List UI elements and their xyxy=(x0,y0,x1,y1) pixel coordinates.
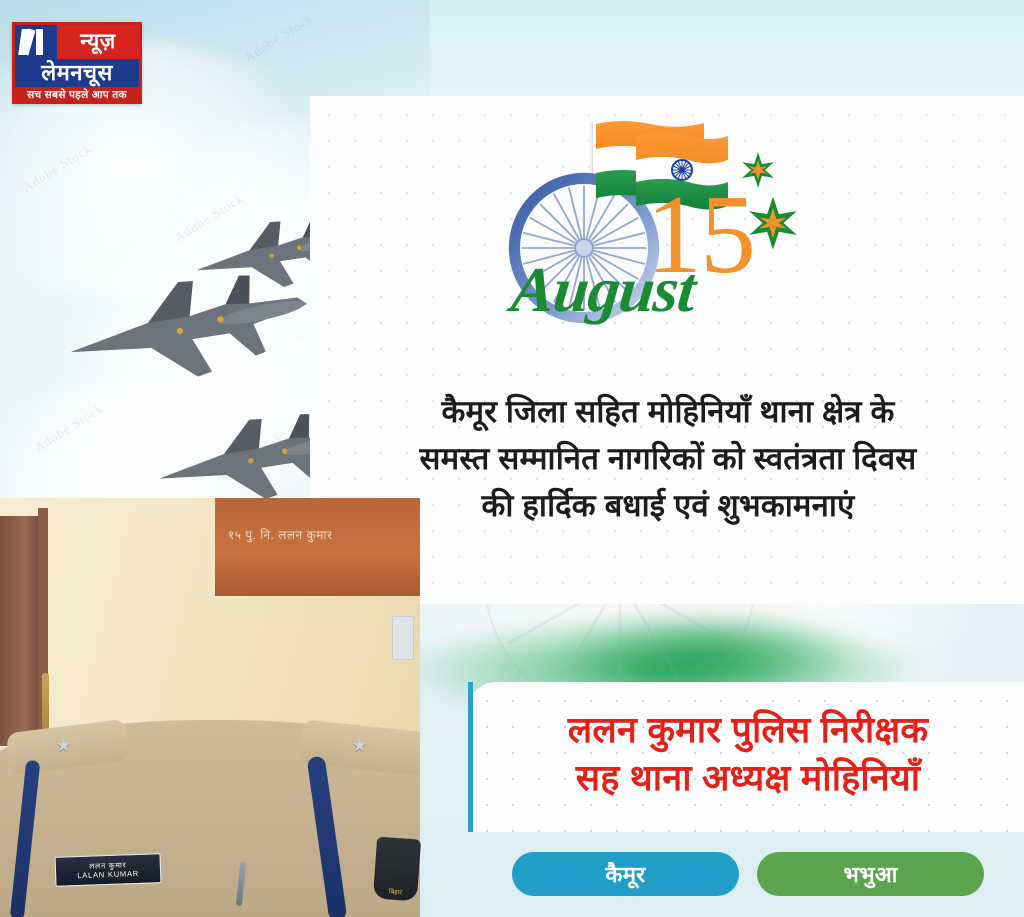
logo-tagline: सच सबसे पहले आप तक xyxy=(15,87,139,103)
logo-word-news: न्यूज़ xyxy=(57,25,139,59)
logo-top-row: न्यूज़ xyxy=(15,25,139,59)
name-badge-english: LALAN KUMAR xyxy=(77,869,139,881)
location-button-row: कैमूर भभुआ xyxy=(468,848,1024,900)
greeting-message: कैमूर जिला सहित मोहिनियाँ थाना क्षेत्र क… xyxy=(318,388,1018,529)
photo-banner-text: १५ पु. नि. ललन कुमार xyxy=(228,526,332,543)
nl-monogram-icon xyxy=(15,25,57,59)
police-shoulder-patch: बिहार xyxy=(373,837,421,902)
greeting-line-3: की हार्दिक बधाई एवं शुभकामनाएं xyxy=(318,482,1018,529)
news-channel-logo[interactable]: न्यूज़ लेमनचूस सच सबसे पहले आप तक xyxy=(12,22,142,104)
rank-star-icon: ★ xyxy=(56,738,72,754)
rank-star-icon: ★ xyxy=(352,738,368,754)
month-script: August xyxy=(509,258,698,322)
location-button-bhabua[interactable]: भभुआ xyxy=(757,852,984,896)
logo-word-lemanchus: लेमनचूस xyxy=(15,59,139,87)
shoulder-patch-text: बिहार xyxy=(388,886,402,900)
officer-name-badge: ललन कुमार LALAN KUMAR xyxy=(55,853,162,887)
officer-name-line-2: सह थाना अध्यक्ष मोहिनियाँ xyxy=(474,754,1022,802)
officer-designation: ललन कुमार पुलिस निरीक्षक सह थाना अध्यक्ष… xyxy=(474,706,1022,801)
greeting-line-2: समस्त सम्मानित नागरिकों को स्वतंत्रता दि… xyxy=(318,435,1018,482)
officer-photo: १५ पु. नि. ललन कुमार ★ ★ xyxy=(0,498,420,917)
photo-door xyxy=(0,516,42,746)
decorative-star-icon xyxy=(746,196,800,250)
decorative-star-icon xyxy=(740,152,776,188)
name-card-accent-bar xyxy=(468,682,473,832)
independence-day-poster: Adobe Stock Adobe Stock Adobe Stock Adob… xyxy=(0,0,1024,917)
photo-banner xyxy=(215,498,420,596)
greeting-line-1: कैमूर जिला सहित मोहिनियाँ थाना क्षेत्र क… xyxy=(318,388,1018,435)
photo-switchplate xyxy=(392,616,414,660)
fifteen-august-lockup: 15 August xyxy=(500,112,790,327)
officer-name-line-1: ललन कुमार पुलिस निरीक्षक xyxy=(474,706,1022,754)
location-button-kaimur[interactable]: कैमूर xyxy=(512,852,739,896)
